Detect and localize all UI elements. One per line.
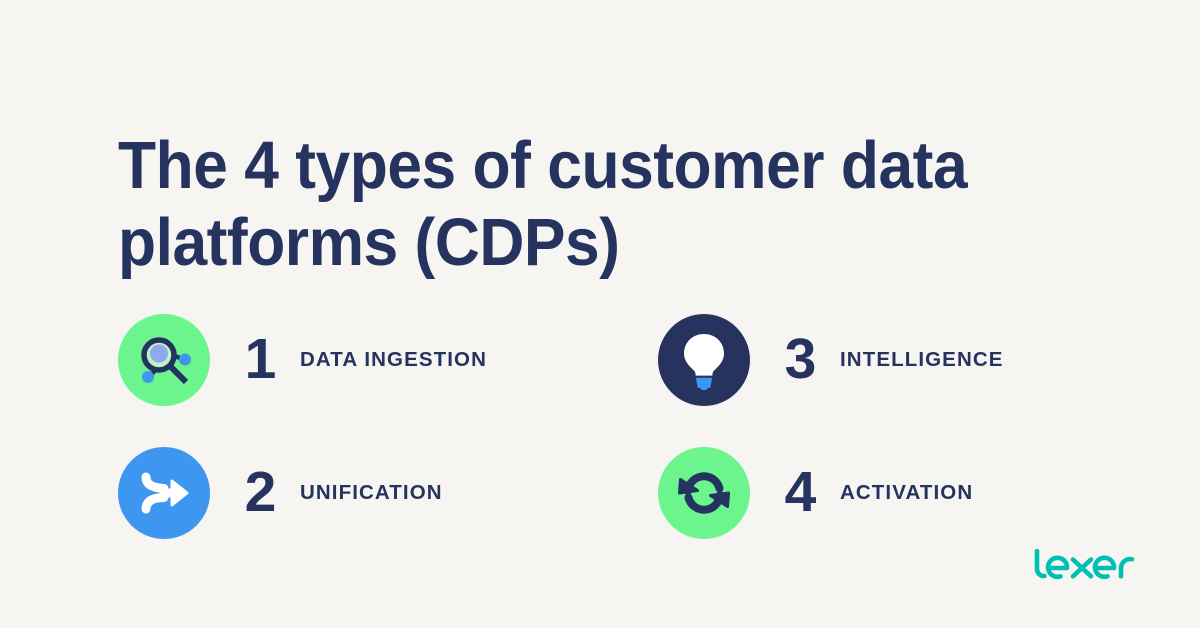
page-title: The 4 types of customer data platforms (…	[118, 127, 1048, 281]
badge-intelligence	[658, 314, 750, 406]
item-label: INTELLIGENCE	[840, 348, 1004, 372]
list-item-intelligence: 3 INTELLIGENCE	[658, 293, 1108, 426]
list-item-data-ingestion: 1 DATA INGESTION	[118, 293, 658, 426]
badge-unification	[118, 447, 210, 539]
item-number: 2	[224, 464, 296, 521]
merge-arrow-icon	[135, 467, 193, 519]
cdp-types-grid: 1 DATA INGESTION 3 INTELLIGENCE	[118, 293, 1108, 559]
lexer-logo	[1032, 549, 1142, 585]
item-label: UNIFICATION	[300, 481, 443, 505]
infographic-canvas: The 4 types of customer data platforms (…	[0, 0, 1200, 628]
badge-activation	[658, 447, 750, 539]
sync-refresh-icon	[675, 466, 733, 520]
badge-data-ingestion	[118, 314, 210, 406]
item-number: 3	[764, 331, 836, 388]
item-number: 4	[764, 464, 836, 521]
item-label: DATA INGESTION	[300, 348, 487, 372]
lightbulb-icon	[676, 330, 732, 390]
item-number: 1	[224, 331, 296, 388]
magnifier-network-icon	[132, 328, 196, 392]
item-label: ACTIVATION	[840, 481, 973, 505]
list-item-activation: 4 ACTIVATION	[658, 426, 1108, 559]
list-item-unification: 2 UNIFICATION	[118, 426, 658, 559]
